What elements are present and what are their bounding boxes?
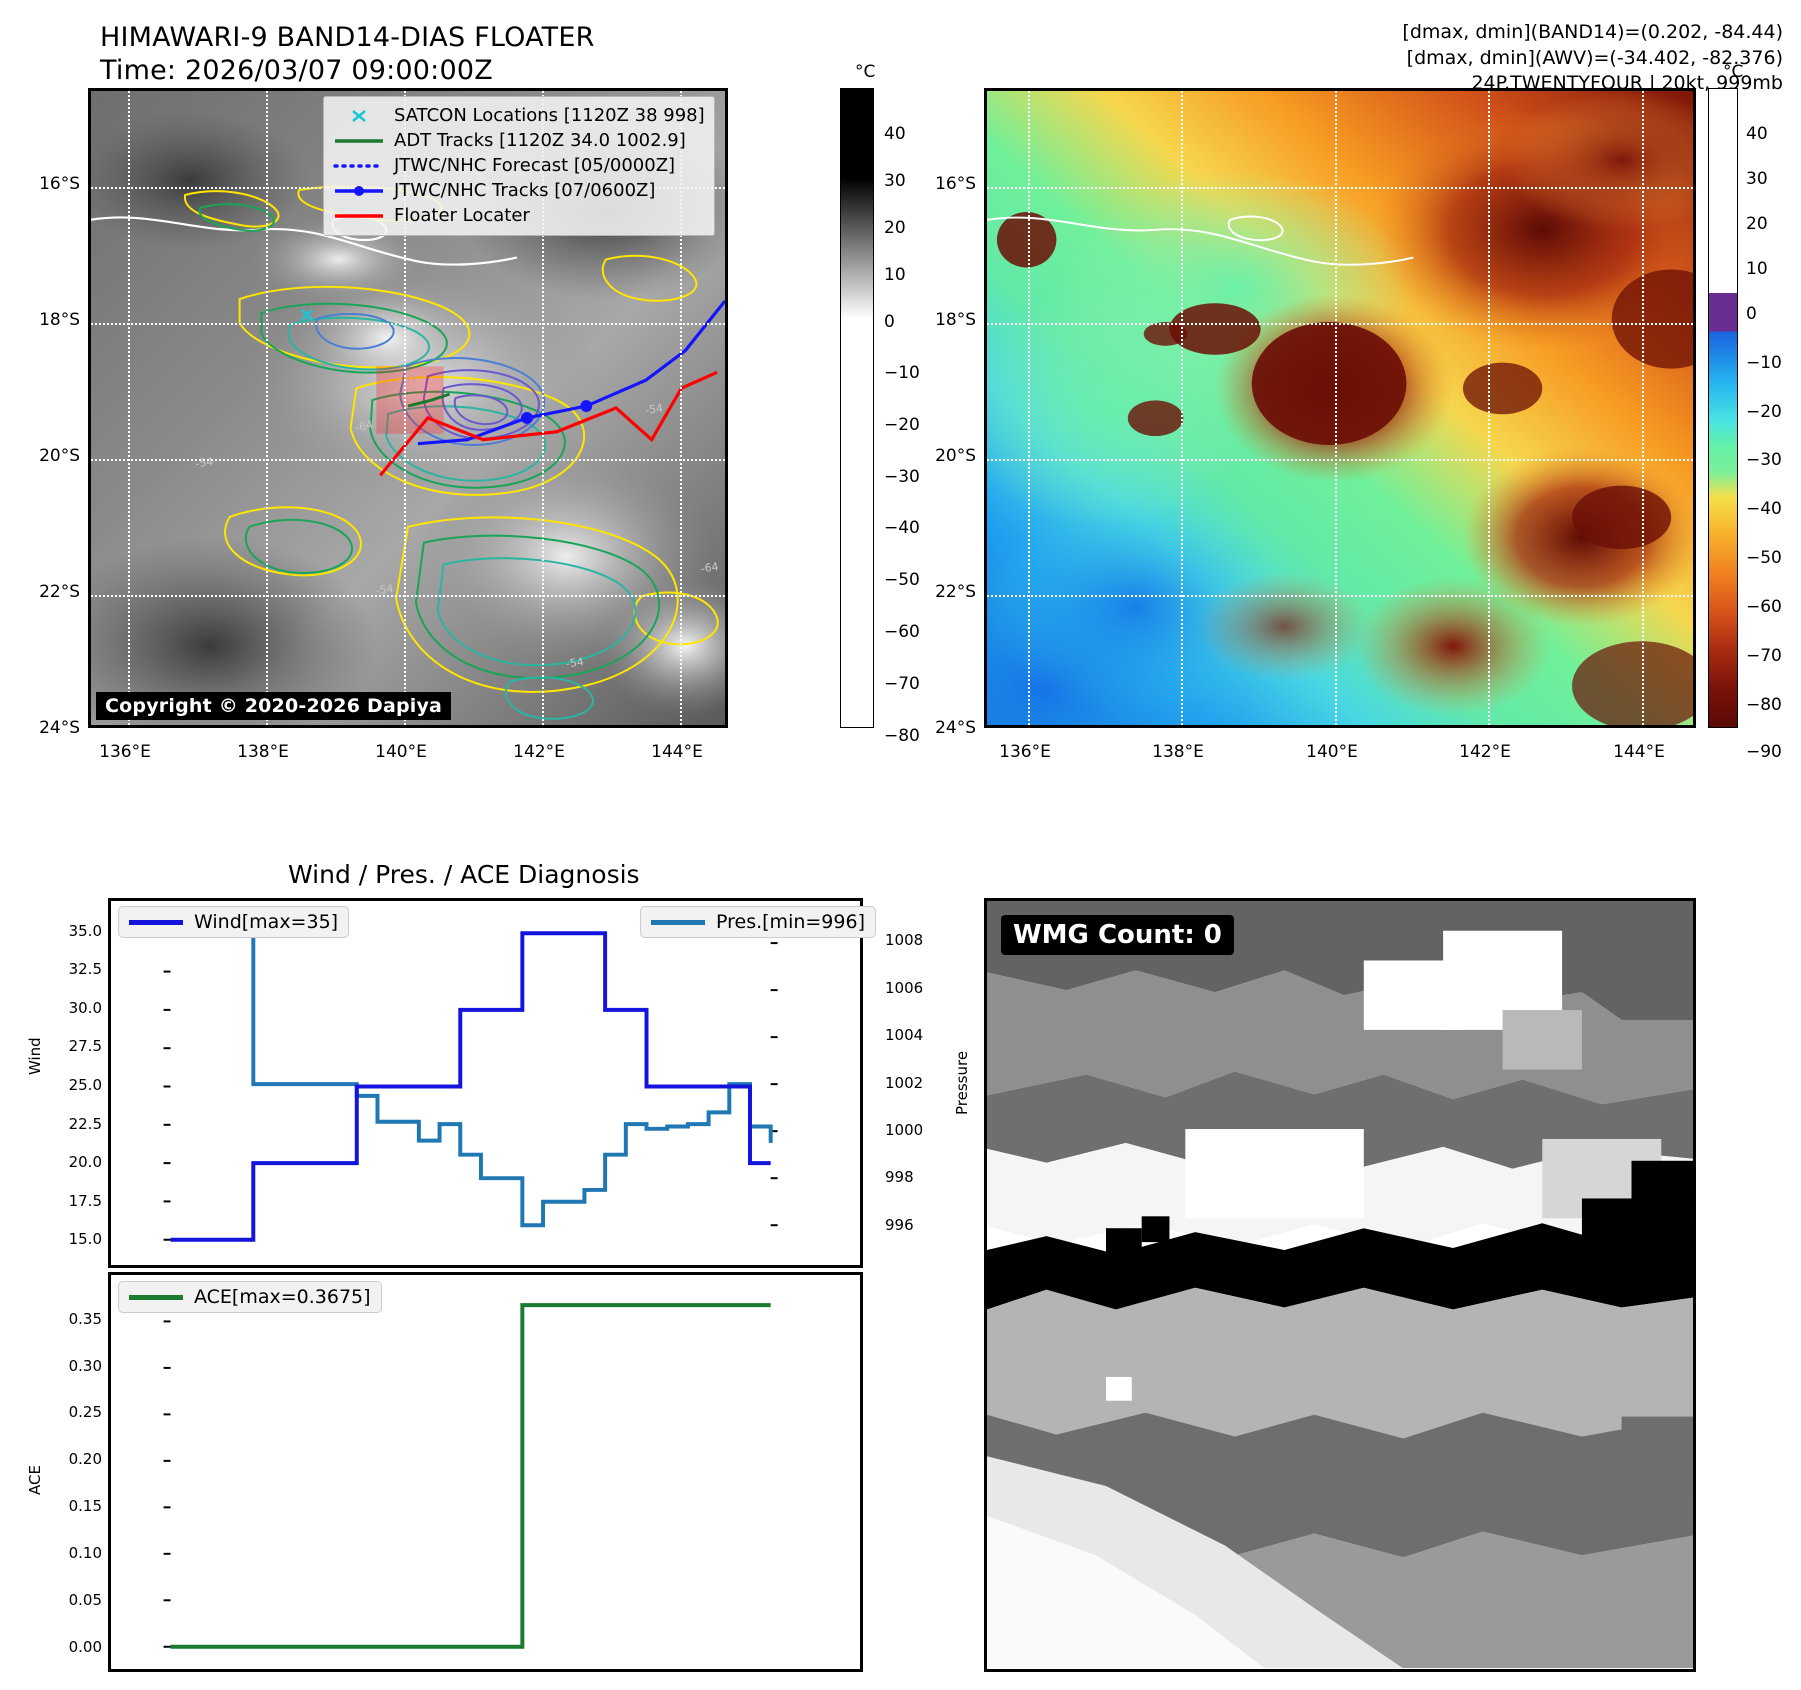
pressure-tick: 1000 [885,1121,923,1139]
pressure-tick: 998 [885,1168,914,1186]
ace-tick: 0.25 [52,1403,102,1421]
wmg-image [987,901,1693,1668]
svg-text:-64: -64 [700,560,719,575]
wind-pressure-chart[interactable] [108,898,863,1268]
legend-item-adt[interactable]: ADT Tracks [1120Z 34.0 1002.9] [333,128,705,153]
svg-text:-54: -54 [565,655,584,670]
ace-tick: 0.15 [52,1497,102,1515]
pressure-tick: 1002 [885,1074,923,1092]
ir-satellite-map[interactable]: -54 -64 -81 -64 -54 -54 -54 -64 -54 [88,88,728,728]
pressure-line-swatch [651,920,705,925]
ace-tick: 0.05 [52,1591,102,1609]
wind-tick: 27.5 [58,1037,102,1055]
wind-tick: 17.5 [58,1192,102,1210]
solid-line-icon [333,207,385,225]
wind-tick: 30.0 [58,999,102,1017]
ace-tick: 0.20 [52,1450,102,1468]
line-with-dot-icon [333,182,385,200]
svg-text:-54: -54 [375,582,394,597]
legend-item-forecast[interactable]: JTWC/NHC Forecast [05/0000Z] [333,153,705,178]
wind-legend-label: Wind[max=35] [194,911,338,933]
wind-axis-label: Wind [26,1037,44,1075]
legend-label-tracks: JTWC/NHC Tracks [07/0600Z] [394,179,655,202]
ir-colorbar-unit: °C [855,62,875,82]
pressure-tick: 1004 [885,1026,923,1044]
awv-image [987,91,1693,726]
svg-text:-54: -54 [644,402,663,417]
header-info: [dmax, dmin](BAND14)=(0.202, -84.44) [dm… [1402,20,1783,97]
ace-legend[interactable]: ACE[max=0.3675] [118,1281,382,1313]
pressure-tick: 996 [885,1216,914,1234]
ace-tick: 0.30 [52,1357,102,1375]
awv-colorbar-unit: °C [1723,62,1743,82]
page-timestamp: Time: 2026/03/07 09:00:00Z [100,55,493,86]
legend-item-floater[interactable]: Floater Locater [333,203,705,228]
legend-label-adt: ADT Tracks [1120Z 34.0 1002.9] [394,129,686,152]
ace-legend-label: ACE[max=0.3675] [194,1286,371,1308]
wmg-map[interactable]: WMG Count: 0 [984,898,1696,1672]
solid-line-icon [333,132,385,150]
wind-legend[interactable]: Wind[max=35] [118,906,349,938]
pressure-tick: 1008 [885,931,923,949]
svg-text:-54: -54 [195,455,214,470]
legend-label-satcon: SATCON Locations [1120Z 38 998] [394,104,705,127]
wind-tick: 22.5 [58,1115,102,1133]
ace-line-swatch [129,1295,183,1300]
ir-colorbar [840,88,874,728]
wind-tick: 25.0 [58,1076,102,1094]
copyright-badge: Copyright © 2020-2026 Dapiya [96,692,451,720]
wind-tick: 20.0 [58,1153,102,1171]
dmax-dmin-band14: [dmax, dmin](BAND14)=(0.202, -84.44) [1402,20,1783,46]
diagnosis-chart-title: Wind / Pres. / ACE Diagnosis [288,860,640,889]
ace-axis-label: ACE [26,1465,44,1495]
ace-tick: 0.35 [52,1310,102,1328]
legend-label-forecast: JTWC/NHC Forecast [05/0000Z] [394,154,675,177]
legend-label-floater: Floater Locater [394,204,530,227]
x-marker-icon [333,107,385,125]
wind-pressure-plot [111,901,860,1268]
ace-tick: 0.00 [52,1638,102,1656]
wind-tick: 15.0 [58,1230,102,1248]
pressure-tick: 1006 [885,979,923,997]
wmg-count-badge: WMG Count: 0 [1001,915,1234,955]
page-title: HIMAWARI-9 BAND14-DIAS FLOATER [100,22,595,53]
ace-plot [111,1275,860,1672]
ir-map-legend: SATCON Locations [1120Z 38 998] ADT Trac… [323,96,715,236]
awv-satellite-map[interactable] [984,88,1696,728]
pressure-legend[interactable]: Pres.[min=996] [640,906,876,938]
ace-chart[interactable] [108,1272,863,1672]
wind-line-swatch [129,920,183,925]
wind-tick: 32.5 [58,960,102,978]
legend-item-tracks[interactable]: JTWC/NHC Tracks [07/0600Z] [333,178,705,203]
ace-tick: 0.10 [52,1544,102,1562]
pressure-legend-label: Pres.[min=996] [716,911,865,933]
awv-colorbar [1708,88,1738,728]
wind-tick: 35.0 [58,922,102,940]
dotted-line-icon [333,157,385,175]
legend-item-satcon[interactable]: SATCON Locations [1120Z 38 998] [333,103,705,128]
pressure-axis-label: Pressure [953,1051,971,1115]
